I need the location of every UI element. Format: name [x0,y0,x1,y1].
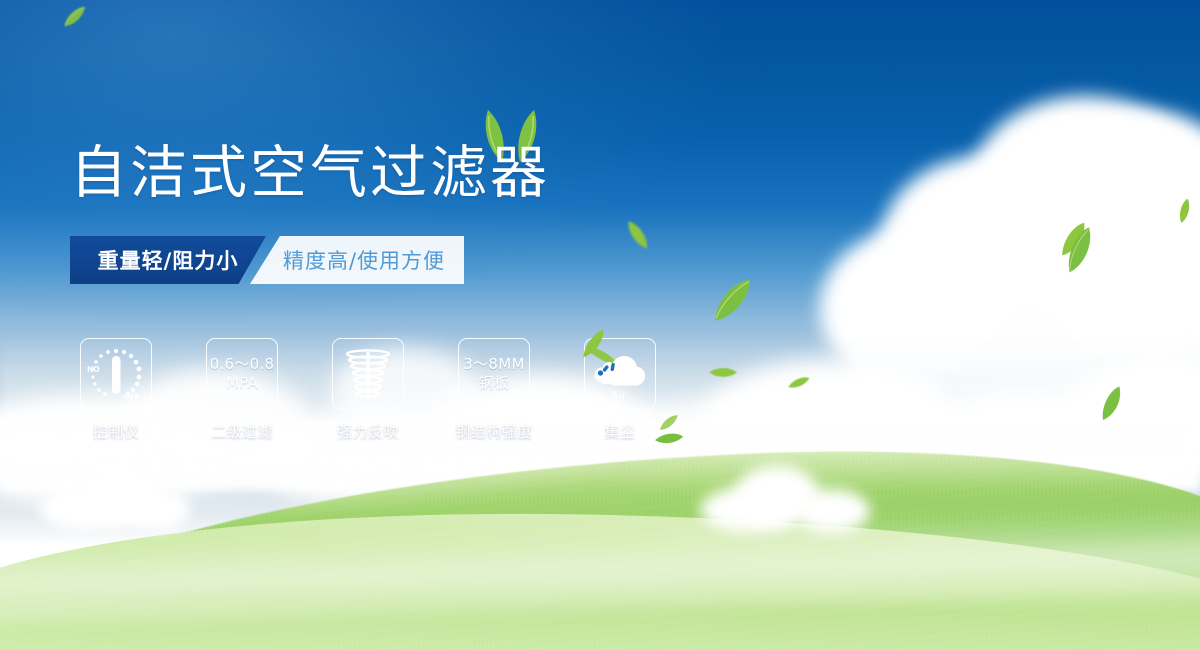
cloud-puff-left [40,470,190,530]
feature-box-text: 0.6～0.8MPA [210,355,275,392]
cloud-puff-center [700,465,870,535]
feature-item-back-blow[interactable]: 强力反吹 [332,338,404,442]
tagline-secondary-text: 精度高/使用方便 [283,245,445,275]
feature-item-dust-collection[interactable]: Air 集尘 [584,338,656,442]
gauge-label-off: OFF [124,393,140,401]
tagline-primary-panel: 重量轻/阻力小 [70,236,266,284]
air-label: Air [611,389,627,402]
gauge-dial-icon: NO OFF [80,338,152,410]
tagline-secondary-panel: 精度高/使用方便 [250,236,464,284]
grass-field [0,420,1200,650]
hero-banner: 自洁式空气过滤器 重量轻/阻力小 精度高/使用方便 [0,0,1200,650]
feature-list: NO OFF 控制仪 0.6～0.8MPA 二级过滤 [80,338,656,442]
tagline-bar: 重量轻/阻力小 精度高/使用方便 [70,236,464,284]
pressure-text-icon: 0.6～0.8MPA [206,338,278,410]
feature-caption: 钢结构强度 [455,421,533,442]
feature-item-two-stage-filter[interactable]: 0.6～0.8MPA 二级过滤 [206,338,278,442]
filter-stack-icon [332,338,404,410]
feature-caption: 控制仪 [93,421,140,442]
tagline-primary-text: 重量轻/阻力小 [98,245,239,275]
feature-box-text: 3～8MM钢板 [463,355,524,392]
air-cloud-icon: Air [584,338,656,410]
feature-item-steel-strength[interactable]: 3～8MM钢板 钢结构强度 [458,338,530,442]
feature-item-control-meter[interactable]: NO OFF 控制仪 [80,338,152,442]
gauge-label-no: NO [87,365,100,374]
steel-plate-text-icon: 3～8MM钢板 [458,338,530,410]
feature-caption: 强力反吹 [337,421,399,442]
page-title: 自洁式空气过滤器 [70,143,550,203]
feature-caption: 二级过滤 [211,421,273,442]
feature-caption: 集尘 [604,421,635,442]
